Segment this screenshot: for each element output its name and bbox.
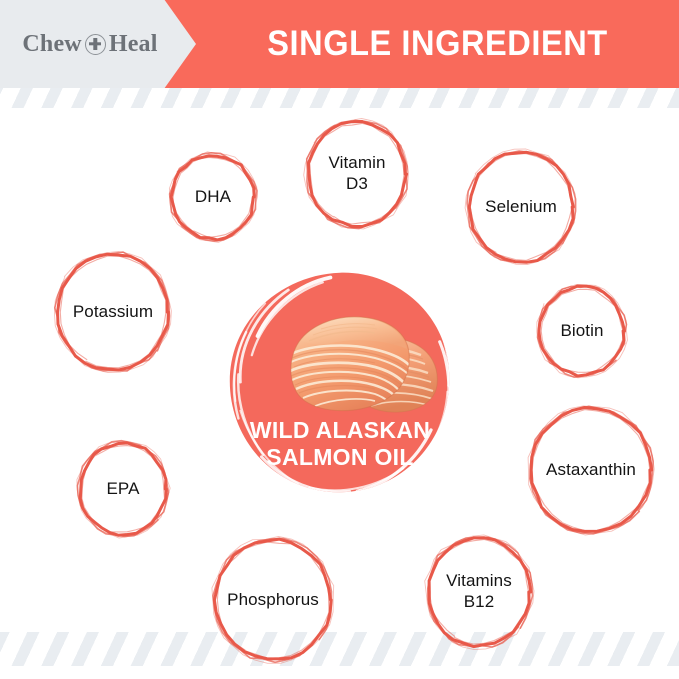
bubble-label: Vitamin D3	[324, 153, 389, 194]
bubble-label: Biotin	[556, 321, 607, 342]
bubble-potassium[interactable]: Potassium	[46, 242, 180, 382]
bubble-biotin[interactable]: Biotin	[528, 275, 636, 387]
bubble-dha[interactable]: DHA	[160, 143, 266, 251]
diagonal-stripe-band-top	[0, 86, 679, 108]
hero-center-badge: WILD ALASKAN SALMON OIL	[225, 267, 455, 497]
bubble-vitamin-d3[interactable]: Vitamin D3	[296, 110, 418, 238]
bubble-label: Selenium	[481, 197, 561, 218]
bubble-astaxanthin[interactable]: Astaxanthin	[519, 396, 663, 544]
page-title: SINGLE INGREDIENT	[213, 0, 662, 88]
bubble-selenium[interactable]: Selenium	[457, 140, 585, 274]
logo-text-chew: Chew	[22, 31, 81, 58]
bubble-vitamins-b12[interactable]: Vitamins B12	[416, 526, 542, 658]
bubble-label: Potassium	[69, 302, 157, 323]
salmon-fillets-photo	[261, 301, 451, 426]
bubble-label: Vitamins B12	[442, 571, 516, 612]
circled-plus-icon	[85, 34, 106, 55]
bubble-label: DHA	[191, 187, 235, 208]
brand-logo: Chew Heal	[22, 31, 157, 58]
bubble-epa[interactable]: EPA	[68, 431, 178, 547]
brand-logo-panel: Chew Heal	[0, 0, 196, 88]
bubble-label: Phosphorus	[223, 590, 323, 611]
single-ingredient-infographic: Chew Heal SINGLE INGREDIENT	[0, 0, 679, 679]
logo-text-heal: Heal	[109, 31, 158, 58]
header-banner: Chew Heal SINGLE INGREDIENT	[0, 0, 679, 88]
bubble-label: EPA	[102, 479, 143, 500]
bubble-phosphorus[interactable]: Phosphorus	[203, 528, 343, 672]
bubble-label: Astaxanthin	[542, 460, 640, 481]
